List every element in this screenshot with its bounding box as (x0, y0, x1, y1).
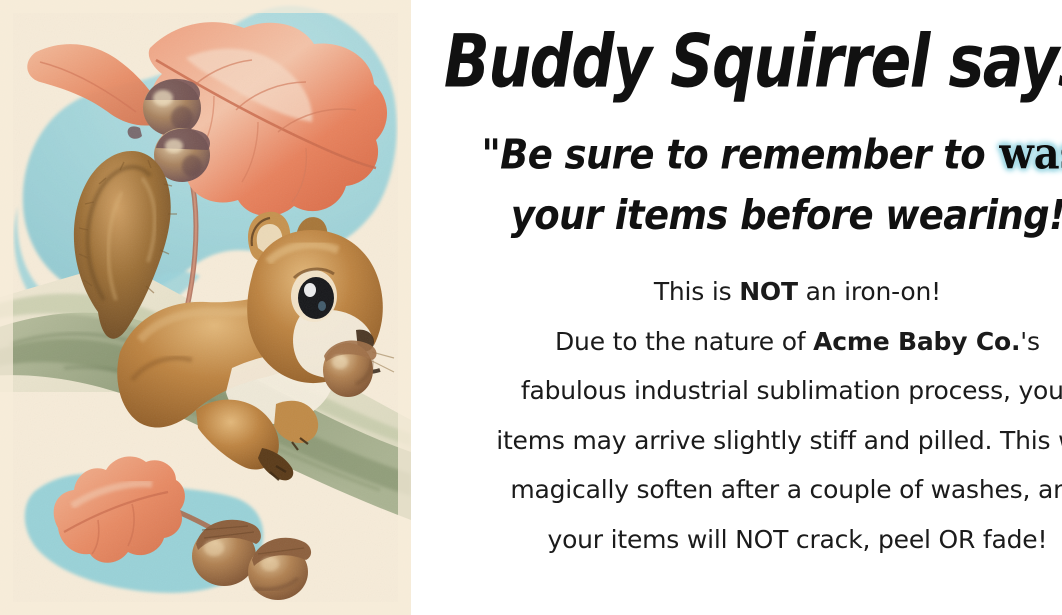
illustration-panel (0, 0, 411, 615)
care-instructions-card: Buddy Squirrel says… "Be sure to remembe… (0, 0, 1062, 615)
body-line-1-emphasis-not: NOT (739, 277, 798, 306)
care-instructions-body: This is NOT an iron-on! Due to the natur… (433, 267, 1062, 564)
quote-emphasis-wash: wash (997, 128, 1062, 180)
body-line-2: Due to the nature of Acme Baby Co.'s (433, 317, 1062, 367)
body-line-2-a: Due to the nature of (555, 327, 813, 356)
body-line-6: your items will NOT crack, peel OR fade! (433, 515, 1062, 565)
body-line-1-a: This is (654, 277, 739, 306)
body-line-3: fabulous industrial sublimation process,… (433, 366, 1062, 416)
body-line-5: magically soften after a couple of washe… (433, 465, 1062, 515)
page-title: Buddy Squirrel says… (444, 24, 1062, 99)
quote-line-1-prefix: "Be sure to remember to (481, 131, 997, 178)
text-panel: Buddy Squirrel says… "Be sure to remembe… (411, 0, 1062, 615)
care-quote: "Be sure to remember to wash your items … (481, 121, 1062, 246)
quote-line-1: "Be sure to remember to wash (481, 121, 1062, 186)
body-line-2-c: 's (1020, 327, 1040, 356)
quote-line-2: your items before wearing!" (481, 186, 1062, 246)
vintage-squirrel-illustration (0, 0, 411, 615)
body-line-1: This is NOT an iron-on! (433, 267, 1062, 317)
body-line-4: items may arrive slightly stiff and pill… (433, 416, 1062, 466)
paper-grain-overlay (0, 0, 411, 615)
body-line-1-c: an iron-on! (798, 277, 941, 306)
body-line-2-brand-name: Acme Baby Co. (813, 327, 1020, 356)
